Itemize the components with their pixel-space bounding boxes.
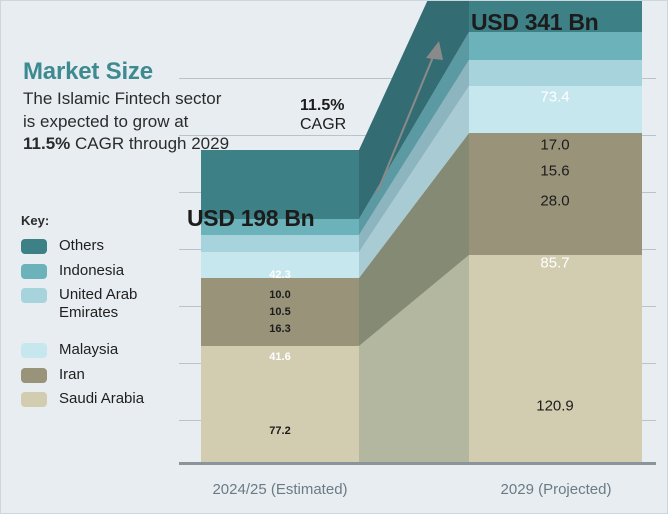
- cagr-annotation: 11.5% CAGR: [300, 97, 372, 135]
- legend-swatch-icon: [21, 343, 47, 358]
- desc-cagr-bold: 11.5%: [23, 134, 70, 153]
- legend-item-saudi-arabia[interactable]: Saudi Arabia: [21, 390, 186, 408]
- legend-item-label: Indonesia: [59, 262, 124, 280]
- legend-item-iran[interactable]: Iran: [21, 366, 186, 384]
- legend-swatch-icon: [21, 288, 47, 303]
- axis-label-2024-25: 2024/25 (Estimated): [212, 481, 347, 498]
- headline-block: Market Size The Islamic Fintech sector i…: [23, 59, 323, 156]
- bar-total-2029: USD 341 Bn: [471, 9, 598, 36]
- value-label-others-2029: 73.4: [540, 89, 569, 106]
- legend-item-label: Saudi Arabia: [59, 390, 144, 408]
- segment-saudi-arabia: [201, 346, 359, 463]
- value-label-iran-2024: 41.6: [269, 351, 290, 363]
- value-label-indonesia-2029: 17.0: [540, 137, 569, 154]
- legend-swatch-icon: [21, 392, 47, 407]
- legend-item-malaysia[interactable]: Malaysia: [21, 341, 186, 359]
- desc-line-3: CAGR through 2029: [70, 134, 229, 153]
- bar-2029: [469, 1, 642, 463]
- legend-item-others[interactable]: Others: [21, 237, 186, 255]
- segment-uae: [469, 60, 642, 86]
- segment-uae: [201, 235, 359, 252]
- value-label-others-2024: 42.3: [269, 269, 290, 281]
- desc-line-2: is expected to grow at: [23, 112, 188, 131]
- cagr-unit: CAGR: [300, 116, 372, 135]
- value-label-indonesia-2024: 10.0: [269, 289, 290, 301]
- value-label-malaysia-2029: 28.0: [540, 193, 569, 210]
- value-label-saudi-arabia-2029: 120.9: [536, 398, 574, 415]
- value-label-uae-2024: 10.5: [269, 306, 290, 318]
- legend-swatch-icon: [21, 368, 47, 383]
- legend-swatch-icon: [21, 264, 47, 279]
- page-title: Market Size: [23, 59, 323, 84]
- value-label-iran-2029: 85.7: [540, 255, 569, 272]
- segment-saudi-arabia: [469, 255, 642, 463]
- legend-item-united-arab-emirates[interactable]: United Arab Emirates: [21, 286, 186, 321]
- chart-legend: Key: Others Indonesia United Arab Emirat…: [21, 213, 186, 415]
- legend-title: Key:: [21, 213, 186, 228]
- axis-label-2029: 2029 (Projected): [501, 481, 612, 498]
- legend-swatch-icon: [21, 239, 47, 254]
- segment-indonesia: [469, 32, 642, 60]
- legend-item-indonesia[interactable]: Indonesia: [21, 262, 186, 280]
- connector-ribbons: [359, 1, 469, 463]
- legend-item-label: United Arab Emirates: [59, 286, 186, 321]
- value-label-saudi-arabia-2024: 77.2: [269, 425, 290, 437]
- legend-item-label: Malaysia: [59, 341, 118, 359]
- market-description: The Islamic Fintech sector is expected t…: [23, 88, 323, 155]
- cagr-value: 11.5%: [300, 97, 372, 116]
- value-label-uae-2029: 15.6: [540, 163, 569, 180]
- legend-item-label: Others: [59, 237, 104, 255]
- bar-total-2024-25: USD 198 Bn: [187, 205, 314, 232]
- desc-line-1: The Islamic Fintech sector: [23, 89, 221, 108]
- infographic-root: Market Size The Islamic Fintech sector i…: [0, 0, 668, 514]
- value-label-malaysia-2024: 16.3: [269, 323, 290, 335]
- legend-item-label: Iran: [59, 366, 85, 384]
